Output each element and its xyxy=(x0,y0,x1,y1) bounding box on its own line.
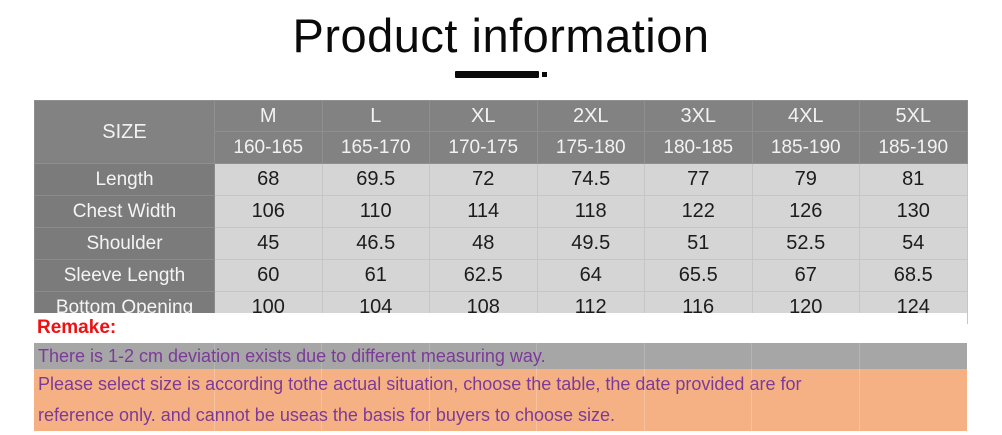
cell-length-l: 69.5 xyxy=(322,164,430,196)
header-height-4xl: 185-190 xyxy=(752,132,860,164)
table-header-size-row: SIZE M L XL 2XL 3XL 4XL 5XL xyxy=(35,101,968,132)
cell-sleeve-length-3xl: 65.5 xyxy=(645,260,753,292)
cell-shoulder-5xl: 54 xyxy=(860,228,968,260)
row-label-length: Length xyxy=(35,164,215,196)
table-row: Length 68 69.5 72 74.5 77 79 81 xyxy=(35,164,968,196)
cell-chest-width-2xl: 118 xyxy=(537,196,645,228)
cell-shoulder-2xl: 49.5 xyxy=(537,228,645,260)
note-band-selection: Please select size is according tothe ac… xyxy=(34,369,967,431)
header-height-2xl: 175-180 xyxy=(537,132,645,164)
header-height-5xl: 185-190 xyxy=(860,132,968,164)
cell-sleeve-length-5xl: 68.5 xyxy=(860,260,968,292)
size-table: SIZE M L XL 2XL 3XL 4XL 5XL 160-165 165-… xyxy=(34,100,968,324)
cell-sleeve-length-l: 61 xyxy=(322,260,430,292)
note-selection-line2: reference only. and cannot be useas the … xyxy=(34,400,967,431)
header-size-3xl: 3XL xyxy=(645,101,753,132)
row-label-shoulder: Shoulder xyxy=(35,228,215,260)
title-underline-bar xyxy=(455,71,539,78)
cell-shoulder-m: 45 xyxy=(215,228,323,260)
header-size-xl: XL xyxy=(430,101,538,132)
cell-length-m: 68 xyxy=(215,164,323,196)
cell-shoulder-3xl: 51 xyxy=(645,228,753,260)
header-size-4xl: 4XL xyxy=(752,101,860,132)
cell-length-4xl: 79 xyxy=(752,164,860,196)
header-size-2xl: 2XL xyxy=(537,101,645,132)
cell-sleeve-length-m: 60 xyxy=(215,260,323,292)
header-height-xl: 170-175 xyxy=(430,132,538,164)
header-height-m: 160-165 xyxy=(215,132,323,164)
row-label-sleeve-length: Sleeve Length xyxy=(35,260,215,292)
header-size-m: M xyxy=(215,101,323,132)
cell-length-xl: 72 xyxy=(430,164,538,196)
cell-chest-width-4xl: 126 xyxy=(752,196,860,228)
cell-length-2xl: 74.5 xyxy=(537,164,645,196)
cell-sleeve-length-xl: 62.5 xyxy=(430,260,538,292)
header-height-3xl: 180-185 xyxy=(645,132,753,164)
cell-chest-width-3xl: 122 xyxy=(645,196,753,228)
table-row: Sleeve Length 60 61 62.5 64 65.5 67 68.5 xyxy=(35,260,968,292)
table-row: Chest Width 106 110 114 118 122 126 130 xyxy=(35,196,968,228)
remake-label: Remake: xyxy=(34,317,116,339)
note-deviation-text: There is 1-2 cm deviation exists due to … xyxy=(34,346,546,367)
cell-sleeve-length-2xl: 64 xyxy=(537,260,645,292)
header-size-l: L xyxy=(322,101,430,132)
title-underline-dot xyxy=(542,72,547,77)
cell-chest-width-5xl: 130 xyxy=(860,196,968,228)
table-corner-size-label: SIZE xyxy=(35,101,215,164)
page-title-block: Product information xyxy=(0,8,1002,64)
cell-chest-width-l: 110 xyxy=(322,196,430,228)
row-label-chest-width: Chest Width xyxy=(35,196,215,228)
cell-length-5xl: 81 xyxy=(860,164,968,196)
header-height-l: 165-170 xyxy=(322,132,430,164)
cell-chest-width-m: 106 xyxy=(215,196,323,228)
page-title: Product information xyxy=(0,8,1002,64)
table-row: Shoulder 45 46.5 48 49.5 51 52.5 54 xyxy=(35,228,968,260)
cell-chest-width-xl: 114 xyxy=(430,196,538,228)
cell-shoulder-l: 46.5 xyxy=(322,228,430,260)
product-information-size-chart: Product information SIZE M L XL 2XL 3XL … xyxy=(0,0,1002,435)
header-size-5xl: 5XL xyxy=(860,101,968,132)
note-selection-line1: Please select size is according tothe ac… xyxy=(34,369,967,400)
cell-shoulder-xl: 48 xyxy=(430,228,538,260)
title-underline-decoration xyxy=(0,63,1002,79)
cell-sleeve-length-4xl: 67 xyxy=(752,260,860,292)
remake-row: Remake: xyxy=(34,313,967,343)
note-band-deviation: There is 1-2 cm deviation exists due to … xyxy=(34,343,967,369)
cell-shoulder-4xl: 52.5 xyxy=(752,228,860,260)
cell-length-3xl: 77 xyxy=(645,164,753,196)
